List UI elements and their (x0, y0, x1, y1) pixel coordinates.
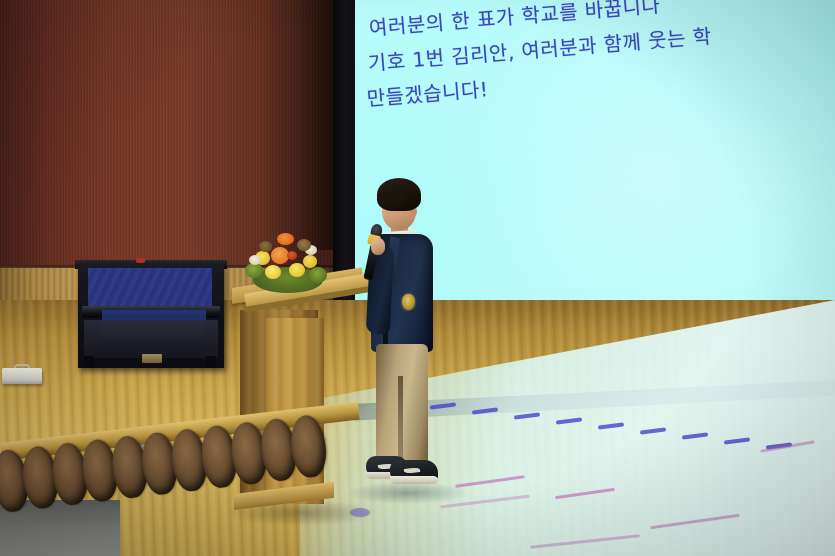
piano-leg-right (206, 356, 216, 368)
flower-orange-top (277, 233, 294, 245)
equipment-case (2, 368, 42, 384)
upright-piano (78, 258, 224, 368)
flower-brown-1 (297, 239, 311, 251)
hand (371, 238, 385, 255)
trouser-leg-separation (398, 376, 403, 462)
piano-lower-panel (84, 320, 218, 358)
flower-yellow-4 (303, 255, 317, 268)
flower-white-left (249, 255, 261, 265)
flower-green-right (309, 267, 327, 283)
flower-yellow-2 (265, 265, 281, 279)
flower-red-accent (287, 251, 297, 260)
piano-pedals (142, 354, 162, 363)
floral-arrangement (243, 233, 331, 295)
flower-green-left (245, 263, 263, 278)
photo-scene: 여러분의 한 표가 학교를 바꿉니다. 여러분의 한 표가 학교를 바꿉니다 기… (0, 0, 835, 556)
piano-leg-left (84, 356, 94, 368)
flower-brown-2 (259, 241, 272, 252)
flower-yellow-3 (289, 263, 305, 277)
student-speaker (358, 176, 456, 506)
piano-top-object (136, 258, 145, 263)
school-crest-emblem (402, 294, 415, 310)
